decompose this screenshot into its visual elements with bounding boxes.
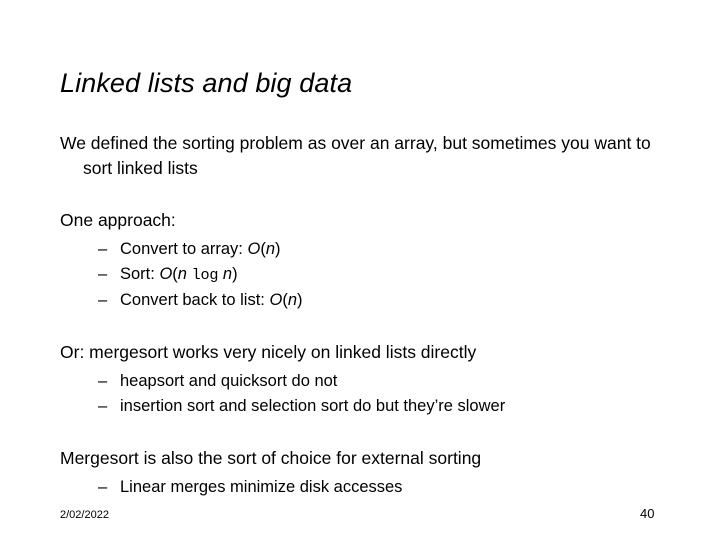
spacer [60,313,660,340]
spacer [60,419,660,446]
slide-canvas: Linked lists and big data We defined the… [0,0,720,540]
dash-bullet-icon: – [98,288,120,313]
list-item-label: Linear merges minimize disk accesses [120,475,660,500]
big-o-arg: n [178,265,187,283]
footer-date: 2/02/2022 [60,508,109,522]
list-item-text: Convert to array: [120,240,247,258]
list-item: – Linear merges minimize disk accesses [60,475,660,500]
list-item: – Convert to array: O(n) [60,237,660,262]
paren-close: ) [297,291,303,309]
body-paragraph-mergesort: Or: mergesort works very nicely on linke… [60,340,660,365]
list-item-label: Convert back to list: O(n) [120,288,660,313]
body-paragraph-external-sorting: Mergesort is also the sort of choice for… [60,446,660,471]
list-item-text: Sort: [120,265,159,283]
dash-bullet-icon: – [98,369,120,394]
list-item-label: Sort: O(n log n) [120,262,660,288]
dash-bullet-icon: – [98,262,120,287]
slide-body: We defined the sorting problem as over a… [60,131,660,500]
big-o-symbol: O [159,265,172,283]
list-item-label: heapsort and quicksort do not [120,369,660,394]
dash-bullet-icon: – [98,237,120,262]
footer-page-number: 40 [640,506,680,522]
big-o-arg: n [266,240,275,258]
dash-bullet-icon: – [98,394,120,419]
body-paragraph-one-approach: One approach: [60,208,660,233]
big-o-arg: n [288,291,297,309]
page-title: Linked lists and big data [60,66,660,100]
big-o-arg-2: n [223,265,232,283]
big-o-symbol: O [269,291,282,309]
log-token: log [192,266,219,284]
list-item: – insertion sort and selection sort do b… [60,394,660,419]
list-item: – Convert back to list: O(n) [60,288,660,313]
spacer [60,181,660,208]
body-paragraph-intro: We defined the sorting problem as over a… [60,131,660,181]
list-item-label: Convert to array: O(n) [120,237,660,262]
paren-close: ) [275,240,281,258]
dash-bullet-icon: – [98,475,120,500]
paren-close: ) [232,265,238,283]
list-item: – Sort: O(n log n) [60,262,660,288]
list-item: – heapsort and quicksort do not [60,369,660,394]
list-item-label: insertion sort and selection sort do but… [120,394,660,419]
list-item-text: Convert back to list: [120,291,269,309]
big-o-symbol: O [247,240,260,258]
